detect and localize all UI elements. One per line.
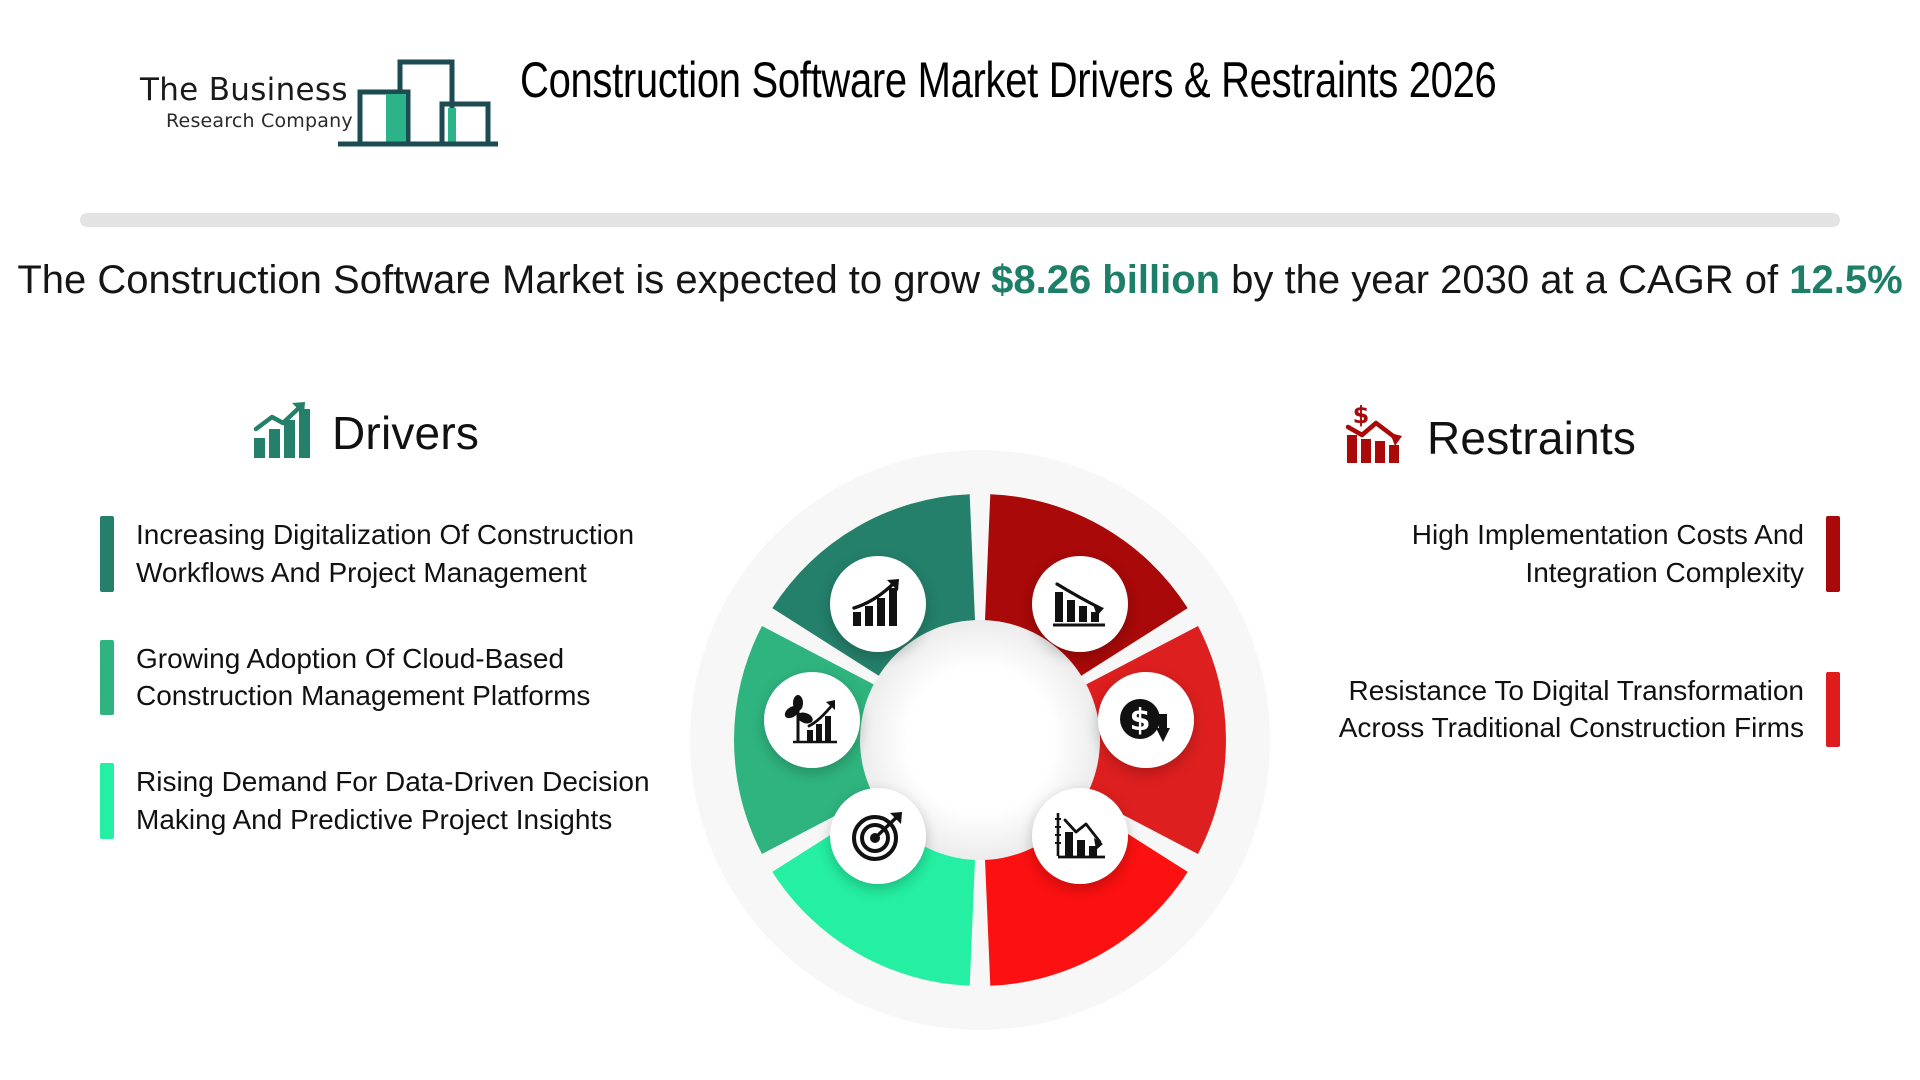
drivers-label: Drivers: [332, 406, 479, 460]
badge-plant-growth-bars: [764, 672, 860, 768]
restraint-accent-bar-2: [1826, 672, 1840, 748]
plant-growth-bars-icon: [783, 694, 841, 746]
header-divider: [80, 213, 1840, 227]
growth-arrow-bars-icon: [851, 578, 905, 630]
logo-line-2: Research Company: [166, 110, 340, 132]
driver-text-3: Rising Demand For Data-Driven Decision M…: [136, 763, 700, 839]
logo-wordmark: The Business Research Company: [140, 74, 340, 132]
bar-chart-logo-mark: [338, 52, 498, 167]
target-dart-icon: [851, 810, 905, 862]
dollar-down-arrow-icon: $: [1117, 694, 1175, 746]
drivers-list: Increasing Digitalization Of Constructio…: [100, 516, 700, 887]
svg-text:$: $: [1353, 405, 1370, 429]
driver-accent-bar-3: [100, 763, 114, 839]
page-title: Construction Software Market Drivers & R…: [520, 52, 1624, 110]
rising-bar-chart-icon: [252, 400, 314, 465]
drivers-restraints-wheel-chart: $: [680, 440, 1280, 1040]
badge-target-dart: [830, 788, 926, 884]
badge-declining-bars-arrow: [1032, 556, 1128, 652]
falling-bar-chart-dollar-icon: $: [1345, 405, 1409, 470]
list-item: Rising Demand For Data-Driven Decision M…: [100, 763, 700, 839]
summary-part-1: The Construction Software Market is expe…: [17, 258, 991, 302]
badge-growth-arrow-bars: [830, 556, 926, 652]
restraint-accent-bar-1: [1826, 516, 1840, 592]
company-logo: The Business Research Company: [140, 52, 470, 162]
declining-line-bars-icon: [1052, 810, 1108, 862]
restraint-text-2: Resistance To Digital Transformation Acr…: [1280, 672, 1804, 748]
list-item: Growing Adoption Of Cloud-Based Construc…: [100, 640, 700, 716]
cagr-highlight: 12.5%: [1789, 258, 1902, 302]
summary-part-2: by the year 2030 at a CAGR of: [1220, 258, 1789, 302]
restraints-list: High Implementation Costs And Integratio…: [1280, 516, 1840, 827]
list-item: High Implementation Costs And Integratio…: [1280, 516, 1840, 592]
market-value-highlight: $8.26 billion: [991, 258, 1220, 302]
driver-text-1: Increasing Digitalization Of Constructio…: [136, 516, 700, 592]
list-item: Resistance To Digital Transformation Acr…: [1280, 672, 1840, 748]
declining-bars-arrow-icon: [1052, 578, 1108, 630]
driver-text-2: Growing Adoption Of Cloud-Based Construc…: [136, 640, 700, 716]
logo-line-1: The Business: [140, 74, 340, 107]
header: The Business Research Company Constructi…: [0, 0, 1920, 200]
restraints-label: Restraints: [1427, 411, 1636, 465]
driver-accent-bar-2: [100, 640, 114, 716]
badge-declining-line-bars: [1032, 788, 1128, 884]
svg-text:$: $: [1130, 703, 1151, 738]
market-summary-statement: The Construction Software Market is expe…: [0, 258, 1920, 303]
restraints-section-heading: $ Restraints: [1345, 405, 1636, 470]
list-item: Increasing Digitalization Of Constructio…: [100, 516, 700, 592]
restraint-text-1: High Implementation Costs And Integratio…: [1280, 516, 1804, 592]
drivers-section-heading: Drivers: [252, 400, 479, 465]
driver-accent-bar-1: [100, 516, 114, 592]
badge-dollar-down-arrow: $: [1098, 672, 1194, 768]
